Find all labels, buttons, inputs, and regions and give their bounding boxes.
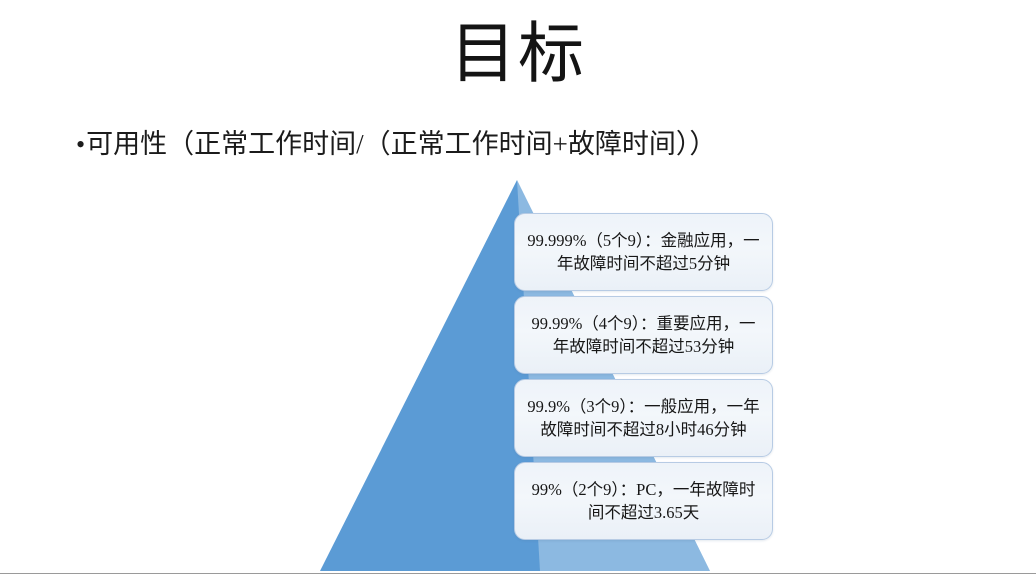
callout-level-4-nines[interactable]: 99.99%（4个9）：重要应用，一年故障时间不超过53分钟 xyxy=(514,296,773,374)
callout-level-5-nines[interactable]: 99.999%（5个9）：金融应用，一年故障时间不超过5分钟 xyxy=(514,213,773,291)
callout-level-2-nines[interactable]: 99%（2个9）：PC，一年故障时间不超过3.65天 xyxy=(514,462,773,540)
bullet-item: • 可用性（正常工作时间/（正常工作时间+故障时间）） xyxy=(76,128,716,160)
slide-canvas: 目标 • 可用性（正常工作时间/（正常工作时间+故障时间）） 99.999%（5… xyxy=(0,0,1036,583)
bullet-marker-icon: • xyxy=(76,132,85,158)
bullet-text: 可用性（正常工作时间/（正常工作时间+故障时间）） xyxy=(86,128,716,160)
callout-text: 99.99%（4个9）：重要应用，一年故障时间不超过53分钟 xyxy=(515,312,772,359)
callout-text: 99%（2个9）：PC，一年故障时间不超过3.65天 xyxy=(515,478,772,525)
callout-list: 99.999%（5个9）：金融应用，一年故障时间不超过5分钟 99.99%（4个… xyxy=(514,213,773,540)
callout-level-3-nines[interactable]: 99.9%（3个9）：一般应用，一年故障时间不超过8小时46分钟 xyxy=(514,379,773,457)
callout-text: 99.999%（5个9）：金融应用，一年故障时间不超过5分钟 xyxy=(515,229,772,276)
page-title: 目标 xyxy=(0,20,1036,89)
callout-text: 99.9%（3个9）：一般应用，一年故障时间不超过8小时46分钟 xyxy=(515,395,772,442)
slide-bottom-divider xyxy=(0,573,1036,574)
